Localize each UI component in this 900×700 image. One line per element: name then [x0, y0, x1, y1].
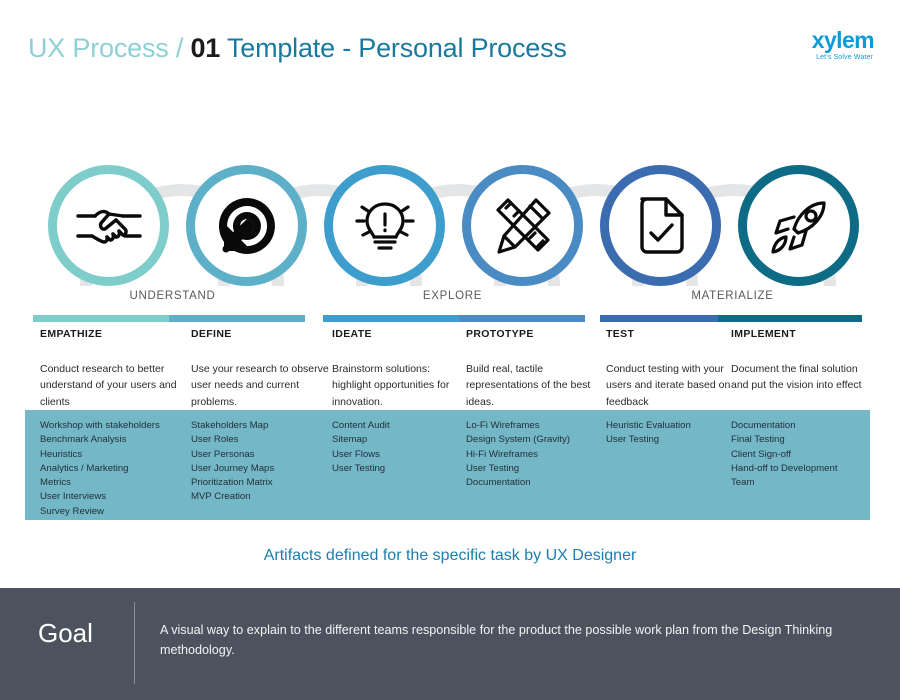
step-ideate: IDEATE Brainstorm solutions: highlight o…	[332, 328, 465, 410]
step-desc-implement: Document the final solution and put the …	[731, 361, 876, 394]
process-flow	[0, 100, 900, 305]
title-number: 01	[190, 33, 220, 63]
process-circle-test[interactable]	[600, 165, 721, 286]
target-arrow-icon	[216, 195, 278, 257]
process-circle-ideate[interactable]	[324, 165, 445, 286]
goal-divider	[134, 602, 135, 684]
step-desc-empathize: Conduct research to better understand of…	[40, 361, 180, 410]
step-prototype: PROTOTYPE Build real, tactile representa…	[466, 328, 599, 410]
artifacts-define: Stakeholders Map User Roles User Persona…	[191, 419, 336, 505]
step-title-empathize: EMPATHIZE	[40, 328, 180, 340]
artifact-item: MVP Creation	[191, 490, 336, 504]
step-title-define: DEFINE	[191, 328, 331, 340]
step-empathize: EMPATHIZE Conduct research to better und…	[40, 328, 180, 410]
process-circle-prototype[interactable]	[462, 165, 583, 286]
artifacts-test: Heuristic Evaluation User Testing	[606, 419, 736, 448]
logo-tagline: Let's Solve Water	[812, 54, 873, 61]
step-test: TEST Conduct testing with your users and…	[606, 328, 731, 410]
process-steps-circles	[0, 100, 900, 305]
pencil-ruler-icon	[492, 195, 554, 257]
goal-text: A visual way to explain to the different…	[160, 621, 860, 660]
artifact-item: Lo-Fi Wireframes	[466, 419, 606, 433]
bar-segment-ideate	[323, 315, 459, 322]
artifact-item: Design System (Gravity)	[466, 433, 606, 447]
step-desc-prototype: Build real, tactile representations of t…	[466, 361, 599, 410]
bar-group-explore	[323, 315, 585, 322]
artifact-item: Hi-Fi Wireframes	[466, 448, 606, 462]
phase-label-explore: EXPLORE	[310, 290, 595, 302]
page-title: UX Process / 01 Template - Personal Proc…	[28, 33, 567, 64]
step-title-ideate: IDEATE	[332, 328, 465, 340]
goal-footer: Goal A visual way to explain to the diff…	[0, 588, 900, 700]
handshake-icon	[75, 200, 143, 252]
title-subtitle: Template - Personal Process	[227, 33, 567, 63]
artifact-item: Hand-off to Development Team	[731, 462, 856, 491]
artifact-item: Final Testing	[731, 433, 856, 447]
bar-group-materialize	[600, 315, 862, 322]
artifacts-band: Workshop with stakeholders Benchmark Ana…	[25, 410, 870, 520]
artifact-item: Heuristic Evaluation	[606, 419, 736, 433]
artifact-item: Heuristics	[40, 448, 185, 462]
process-circle-define[interactable]	[186, 165, 307, 286]
artifact-item: Analytics / Marketing	[40, 462, 185, 476]
rocket-icon	[768, 195, 830, 257]
step-implement: IMPLEMENT Document the final solution an…	[731, 328, 876, 394]
artifact-item: Sitemap	[332, 433, 462, 447]
artifact-item: User Interviews	[40, 490, 185, 504]
logo-wordmark: xylem	[812, 29, 874, 52]
artifact-item: Content Audit	[332, 419, 462, 433]
step-title-implement: IMPLEMENT	[731, 328, 876, 340]
artifacts-implement: Documentation Final Testing Client Sign-…	[731, 419, 856, 490]
artifact-item: User Testing	[466, 462, 606, 476]
slide-header: UX Process / 01 Template - Personal Proc…	[0, 0, 900, 92]
artifact-item: User Journey Maps	[191, 462, 336, 476]
step-define: DEFINE Use your research to observe user…	[191, 328, 331, 410]
artifact-item: Client Sign-off	[731, 448, 856, 462]
bar-segment-test	[600, 315, 718, 322]
step-desc-define: Use your research to observe user needs …	[191, 361, 331, 410]
artifacts-caption: Artifacts defined for the specific task …	[0, 547, 900, 565]
xylem-logo: xylem Let's Solve Water	[812, 29, 874, 61]
bar-segment-prototype	[459, 315, 585, 322]
phase-label-materialize: MATERIALIZE	[590, 290, 875, 302]
bar-segment-implement	[718, 315, 862, 322]
ux-process-slide: UX Process / 01 Template - Personal Proc…	[0, 0, 900, 700]
phase-progress-bars	[0, 315, 900, 322]
artifacts-empathize: Workshop with stakeholders Benchmark Ana…	[40, 419, 185, 519]
phase-label-understand: UNDERSTAND	[30, 290, 315, 302]
artifact-item: Prioritization Matrix	[191, 476, 336, 490]
bar-segment-define	[169, 315, 305, 322]
title-separator: /	[176, 33, 183, 63]
artifact-item: User Testing	[332, 462, 462, 476]
step-desc-ideate: Brainstorm solutions: highlight opportun…	[332, 361, 465, 410]
step-title-test: TEST	[606, 328, 731, 340]
phase-labels: UNDERSTAND EXPLORE MATERIALIZE	[0, 290, 900, 308]
artifact-item: User Personas	[191, 448, 336, 462]
title-prefix: UX Process	[28, 33, 169, 63]
artifact-item: Workshop with stakeholders	[40, 419, 185, 433]
artifact-item: Stakeholders Map	[191, 419, 336, 433]
process-circle-implement[interactable]	[738, 165, 859, 286]
artifacts-prototype: Lo-Fi Wireframes Design System (Gravity)…	[466, 419, 606, 490]
artifact-item: User Testing	[606, 433, 736, 447]
artifact-item: Documentation	[466, 476, 606, 490]
artifact-item: Survey Review	[40, 505, 185, 519]
artifact-item: Metrics	[40, 476, 185, 490]
step-title-prototype: PROTOTYPE	[466, 328, 599, 340]
bar-group-understand	[33, 315, 305, 322]
artifact-item: User Roles	[191, 433, 336, 447]
artifacts-ideate: Content Audit Sitemap User Flows User Te…	[332, 419, 462, 476]
artifact-item: User Flows	[332, 448, 462, 462]
process-circle-empathize[interactable]	[48, 165, 169, 286]
step-descriptions: EMPATHIZE Conduct research to better und…	[0, 328, 900, 413]
lightbulb-idea-icon	[353, 195, 417, 257]
artifact-item: Benchmark Analysis	[40, 433, 185, 447]
goal-label: Goal	[38, 618, 93, 649]
bar-segment-empathize	[33, 315, 169, 322]
artifact-item: Documentation	[731, 419, 856, 433]
document-check-icon	[636, 195, 686, 257]
step-desc-test: Conduct testing with your users and iter…	[606, 361, 731, 410]
